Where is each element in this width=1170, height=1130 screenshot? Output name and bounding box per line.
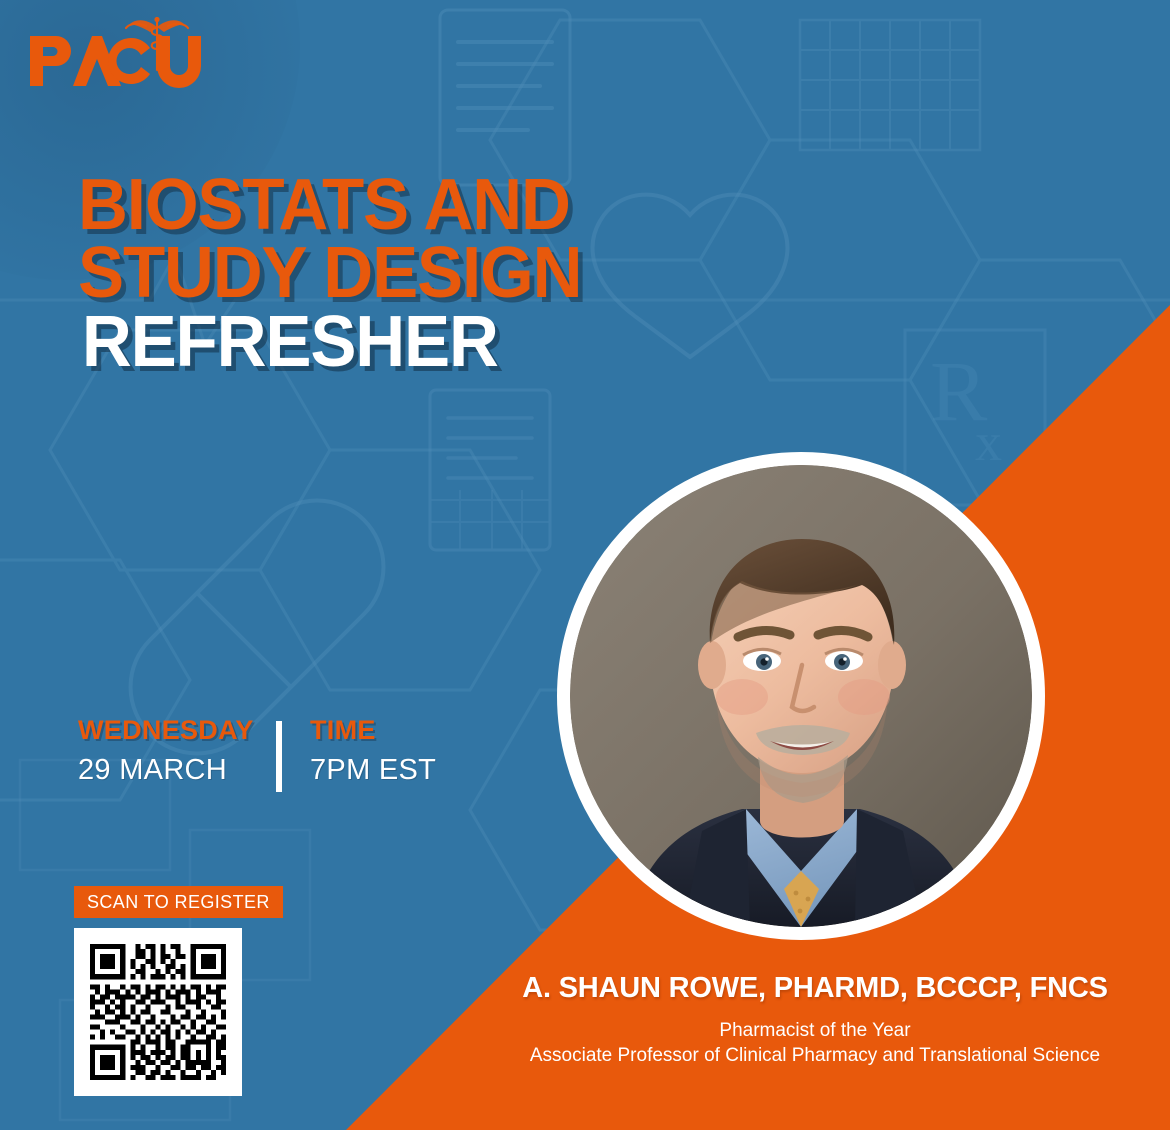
event-time-label: TIME	[310, 716, 436, 744]
register-block: SCAN TO REGISTER	[74, 886, 283, 1096]
event-time-column: TIME 7PM EST	[282, 716, 436, 800]
event-datetime: WEDNESDAY 29 MARCH TIME 7PM EST	[78, 716, 436, 800]
qr-code-card[interactable]	[74, 928, 242, 1096]
speaker-subtitle-line-2: Associate Professor of Clinical Pharmacy…	[470, 1043, 1160, 1068]
page-title: BIOSTATS AND STUDY DESIGN REFRESHER	[78, 172, 778, 377]
event-day-value: 29 MARCH	[78, 755, 276, 785]
event-time-value: 7PM EST	[310, 755, 436, 785]
speaker-subtitle: Pharmacist of the Year Associate Profess…	[470, 1018, 1160, 1068]
avatar	[557, 452, 1045, 940]
speaker-name: A. SHAUN ROWE, PHARMD, BCCCP, FNCS	[470, 972, 1160, 1005]
pacu-wordmark	[30, 36, 201, 88]
title-line-2: STUDY DESIGN	[78, 240, 750, 308]
title-line-3: REFRESHER	[78, 309, 750, 377]
scan-to-register-badge: SCAN TO REGISTER	[74, 886, 283, 918]
event-day-column: WEDNESDAY 29 MARCH	[78, 716, 276, 800]
speaker-subtitle-line-1: Pharmacist of the Year	[470, 1018, 1160, 1043]
speaker-caption: A. SHAUN ROWE, PHARMD, BCCCP, FNCS Pharm…	[470, 972, 1160, 1068]
title-line-1: BIOSTATS AND	[78, 172, 750, 240]
qr-code-icon[interactable]	[85, 939, 231, 1085]
event-day-label: WEDNESDAY	[78, 716, 276, 744]
pacu-logo	[26, 14, 206, 94]
event-flyer: R x	[0, 0, 1170, 1130]
speaker-headshot	[570, 465, 1032, 927]
